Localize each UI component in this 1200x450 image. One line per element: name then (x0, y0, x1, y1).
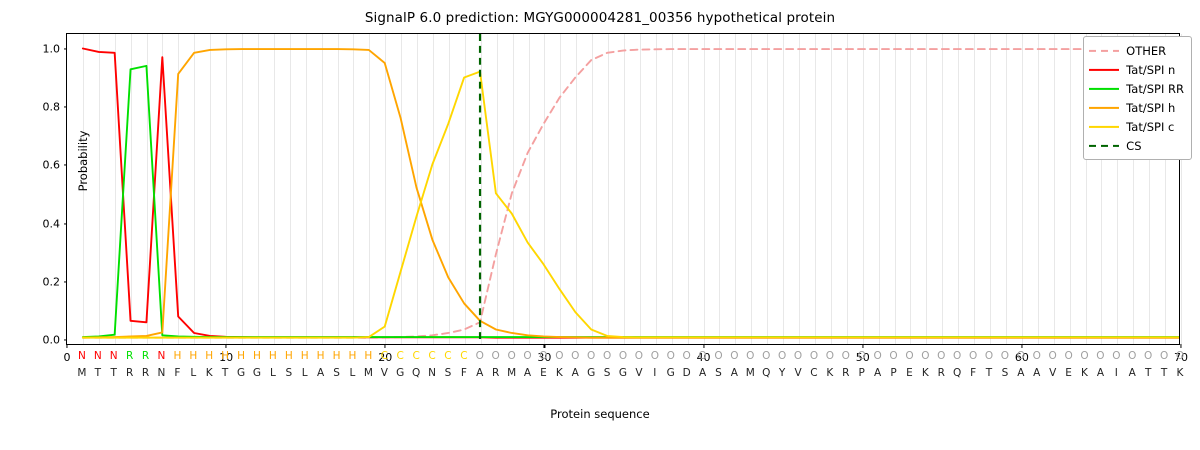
region-annotation-row: NNNRRNHHHHHHHHHHHHHCCCCCCOOOOOOOOOOOOOOO… (66, 349, 1180, 364)
y-axis-label: Probability (76, 91, 90, 231)
region-label: H (253, 349, 261, 364)
series-line (83, 49, 1179, 338)
region-label: O (1049, 349, 1057, 364)
residue-label: F (174, 366, 180, 381)
region-label: O (1080, 349, 1088, 364)
region-label: O (651, 349, 659, 364)
y-tick-mark (64, 165, 68, 166)
region-label: O (1017, 349, 1025, 364)
legend: OTHERTat/SPI nTat/SPI RRTat/SPI hTat/SPI… (1083, 36, 1192, 160)
series-line (83, 48, 1179, 337)
region-label: O (667, 349, 675, 364)
residue-label: Q (953, 366, 961, 381)
region-label: O (523, 349, 531, 364)
legend-item[interactable]: Tat/SPI RR (1089, 79, 1184, 98)
region-label: O (507, 349, 515, 364)
region-label: O (555, 349, 563, 364)
region-label: H (364, 349, 372, 364)
series-line (83, 49, 1179, 338)
region-label: H (269, 349, 277, 364)
residue-label: T (111, 366, 117, 381)
region-label: O (746, 349, 754, 364)
region-label: C (428, 349, 435, 364)
residue-label: S (604, 366, 611, 381)
residue-label: C (810, 366, 817, 381)
residue-label: S (445, 366, 452, 381)
residue-label: N (158, 366, 166, 381)
region-label: H (301, 349, 309, 364)
residue-label: R (842, 366, 849, 381)
region-label: O (1001, 349, 1009, 364)
region-label: O (762, 349, 770, 364)
residue-label: S (285, 366, 292, 381)
residue-label: T (986, 366, 992, 381)
legend-label: OTHER (1126, 44, 1166, 58)
residue-label: L (350, 366, 356, 381)
residue-label: A (1017, 366, 1024, 381)
region-label: O (492, 349, 500, 364)
residue-label: S (333, 366, 340, 381)
x-tick-mark (226, 344, 227, 348)
residue-label: L (270, 366, 276, 381)
residue-label: S (1002, 366, 1009, 381)
residue-label: I (1115, 366, 1118, 381)
region-label: H (237, 349, 245, 364)
region-label: O (794, 349, 802, 364)
residue-label: A (874, 366, 881, 381)
region-label: O (905, 349, 913, 364)
residue-label: A (524, 366, 531, 381)
residue-label: K (556, 366, 563, 381)
y-tick-mark (64, 281, 68, 282)
region-label: O (1176, 349, 1184, 364)
region-label: O (1144, 349, 1152, 364)
x-tick-mark (862, 344, 863, 348)
region-label: O (858, 349, 866, 364)
residue-label: Y (779, 366, 785, 381)
region-label: O (683, 349, 691, 364)
residue-label: T (1161, 366, 1167, 381)
x-tick-mark (1021, 344, 1022, 348)
residue-label: G (667, 366, 675, 381)
y-tick-mark (64, 223, 68, 224)
y-tick-mark (64, 48, 68, 49)
residue-label: T (222, 366, 228, 381)
x-tick-mark (544, 344, 545, 348)
region-label: H (317, 349, 325, 364)
legend-label: Tat/SPI RR (1126, 82, 1184, 96)
residue-label: G (619, 366, 627, 381)
data-curves (67, 34, 1179, 344)
series-line (83, 72, 1179, 338)
residue-label: E (540, 366, 547, 381)
legend-item[interactable]: Tat/SPI c (1089, 117, 1184, 136)
legend-swatch-icon (1089, 83, 1119, 94)
residue-label: M (77, 366, 86, 381)
region-label: O (921, 349, 929, 364)
residue-label: G (396, 366, 404, 381)
region-label: H (173, 349, 181, 364)
residue-label: M (507, 366, 516, 381)
residue-label: A (476, 366, 483, 381)
residue-label: A (1097, 366, 1104, 381)
residue-label: K (1081, 366, 1088, 381)
residue-label: R (142, 366, 149, 381)
region-label: C (397, 349, 404, 364)
chart-title: SignalP 6.0 prediction: MGYG000004281_00… (0, 10, 1200, 26)
residue-label: A (731, 366, 738, 381)
legend-item[interactable]: CS (1089, 136, 1184, 155)
residue-label: R (492, 366, 499, 381)
residue-label: K (206, 366, 213, 381)
residue-label: G (237, 366, 245, 381)
residue-label: R (126, 366, 133, 381)
residue-label: V (381, 366, 388, 381)
y-tick-mark (64, 106, 68, 107)
residue-label: V (635, 366, 642, 381)
legend-label: CS (1126, 139, 1141, 153)
region-label: C (381, 349, 388, 364)
region-label: O (571, 349, 579, 364)
region-label: O (826, 349, 834, 364)
region-label: H (221, 349, 229, 364)
legend-swatch-icon (1089, 45, 1119, 56)
region-label: O (937, 349, 945, 364)
residue-label: L (302, 366, 308, 381)
plot-area: 0.00.20.40.60.81.0010203040506070 Probab… (66, 33, 1180, 345)
region-label: O (1033, 349, 1041, 364)
residue-label: A (699, 366, 706, 381)
series-line (83, 66, 1179, 337)
residue-label: I (653, 366, 656, 381)
residue-label: K (1177, 366, 1184, 381)
region-label: H (189, 349, 197, 364)
residue-label: V (1049, 366, 1056, 381)
region-label: N (158, 349, 166, 364)
residue-label: F (970, 366, 976, 381)
region-label: H (349, 349, 357, 364)
region-label: O (698, 349, 706, 364)
residue-label: P (890, 366, 896, 381)
region-label: O (1096, 349, 1104, 364)
residue-label: T (1145, 366, 1151, 381)
residue-label: G (587, 366, 595, 381)
region-label: H (285, 349, 293, 364)
region-label: O (635, 349, 643, 364)
residue-label: A (1033, 366, 1040, 381)
region-label: O (603, 349, 611, 364)
region-label: N (94, 349, 102, 364)
region-label: O (1128, 349, 1136, 364)
residue-label: P (859, 366, 865, 381)
region-label: O (714, 349, 722, 364)
region-label: O (1160, 349, 1168, 364)
region-label: O (842, 349, 850, 364)
legend-swatch-icon (1089, 102, 1119, 113)
legend-item[interactable]: OTHER (1089, 41, 1184, 60)
residue-label: N (428, 366, 436, 381)
residue-label: L (190, 366, 196, 381)
residue-label: Q (762, 366, 770, 381)
region-label: O (889, 349, 897, 364)
region-label: O (730, 349, 738, 364)
region-label: O (873, 349, 881, 364)
residue-label: M (746, 366, 755, 381)
region-label: O (587, 349, 595, 364)
region-label: N (110, 349, 118, 364)
region-label: O (539, 349, 547, 364)
region-label: C (412, 349, 419, 364)
region-label: O (953, 349, 961, 364)
region-label: H (205, 349, 213, 364)
residue-label: Q (412, 366, 420, 381)
region-label: O (810, 349, 818, 364)
region-label: N (78, 349, 86, 364)
legend-swatch-icon (1089, 64, 1119, 75)
legend-swatch-icon (1089, 140, 1119, 151)
region-label: O (619, 349, 627, 364)
residue-label: E (1065, 366, 1072, 381)
legend-label: Tat/SPI n (1126, 63, 1175, 77)
residue-label: E (906, 366, 913, 381)
x-tick-mark (385, 344, 386, 348)
residue-label: A (317, 366, 324, 381)
region-label: R (142, 349, 149, 364)
residue-label: F (461, 366, 467, 381)
legend-label: Tat/SPI c (1126, 120, 1174, 134)
residue-label: D (683, 366, 691, 381)
residue-label: R (938, 366, 945, 381)
region-label: O (1064, 349, 1072, 364)
region-label: H (333, 349, 341, 364)
protein-sequence-row: MTTRRNFLKTGGLSLASLMVGQNSFARMAEKAGSGVIGDA… (66, 366, 1180, 381)
residue-label: A (572, 366, 579, 381)
signalp-plot-figure: SignalP 6.0 prediction: MGYG000004281_00… (0, 0, 1200, 450)
residue-label: A (1129, 366, 1136, 381)
x-tick-mark (1180, 344, 1181, 348)
residue-label: T (95, 366, 101, 381)
region-label: O (1112, 349, 1120, 364)
legend-item[interactable]: Tat/SPI n (1089, 60, 1184, 79)
residue-label: K (826, 366, 833, 381)
x-tick-mark (66, 344, 67, 348)
residue-label: M (364, 366, 373, 381)
residue-label: V (794, 366, 801, 381)
legend-swatch-icon (1089, 121, 1119, 132)
x-tick-mark (703, 344, 704, 348)
legend-item[interactable]: Tat/SPI h (1089, 98, 1184, 117)
region-label: O (778, 349, 786, 364)
region-label: O (476, 349, 484, 364)
residue-label: K (922, 366, 929, 381)
region-label: O (985, 349, 993, 364)
region-label: C (444, 349, 451, 364)
region-label: R (126, 349, 133, 364)
x-axis-label: Protein sequence (0, 407, 1200, 421)
residue-label: S (715, 366, 722, 381)
region-label: O (969, 349, 977, 364)
residue-label: G (253, 366, 261, 381)
legend-label: Tat/SPI h (1126, 101, 1175, 115)
y-tick-mark (64, 340, 68, 341)
region-label: C (460, 349, 467, 364)
